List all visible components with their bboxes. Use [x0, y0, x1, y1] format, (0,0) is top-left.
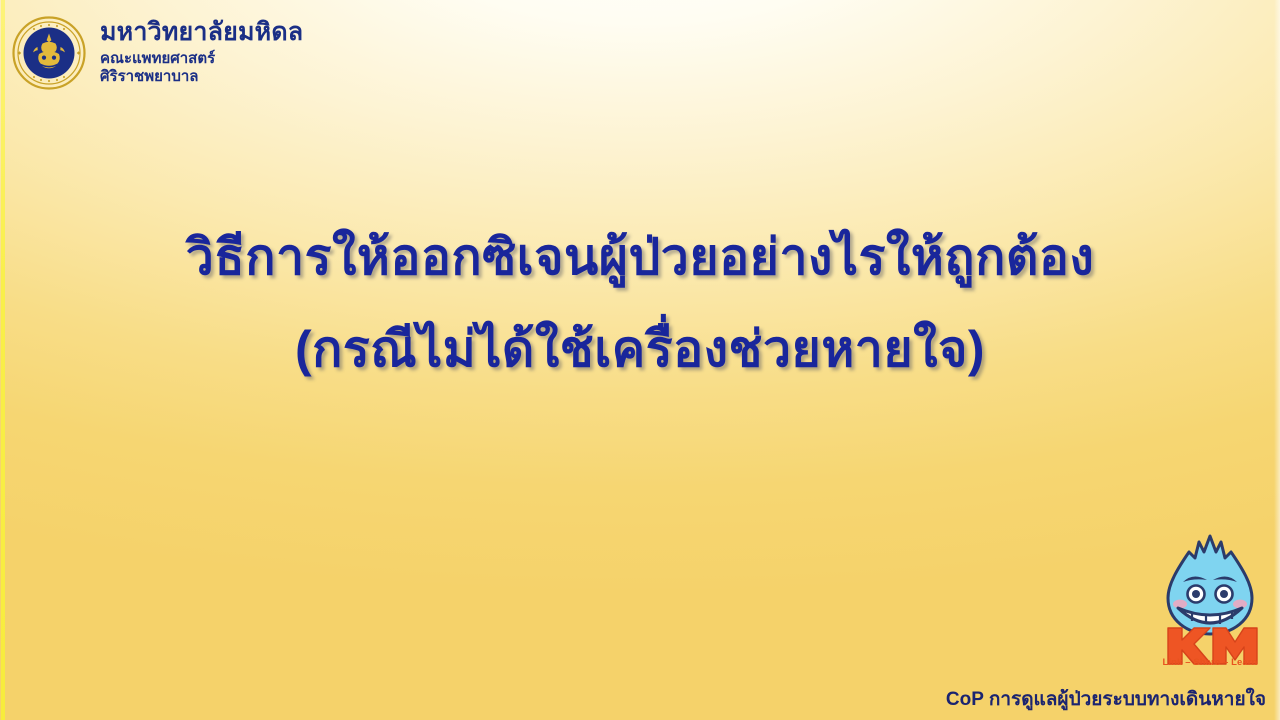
mahidol-university-seal-icon [12, 16, 86, 90]
faculty-name: คณะแพทยศาสตร์ [100, 51, 303, 66]
branding-text-group: มหาวิทยาลัยมหิดล คณะแพทยศาสตร์ ศิริราชพย… [100, 16, 303, 84]
km-caption-wrap: Link – Share – Learn [1158, 657, 1262, 668]
slide-title-block: วิธีการให้ออกซิเจนผู้ป่วยอย่างไรให้ถูกต้… [0, 232, 1280, 374]
km-logo: Link – Share – Learn [1158, 532, 1262, 668]
university-name: มหาวิทยาลัยมหิดล [100, 20, 303, 45]
cop-footer-caption: CoP การดูแลผู้ป่วยระบบทางเดินหายใจ [946, 684, 1266, 714]
slide-title-line-1: วิธีการให้ออกซิเจนผู้ป่วยอย่างไรให้ถูกต้… [0, 232, 1280, 282]
km-water-drop-mascot-icon [1158, 532, 1262, 668]
km-logo-caption: Link – Share – Learn [1158, 657, 1262, 668]
institution-branding: มหาวิทยาลัยมหิดล คณะแพทยศาสตร์ ศิริราชพย… [12, 16, 303, 90]
slide-canvas: มหาวิทยาลัยมหิดล คณะแพทยศาสตร์ ศิริราชพย… [0, 0, 1280, 720]
slide-title-line-2: (กรณีไม่ได้ใช้เครื่องช่วยหายใจ) [0, 324, 1280, 374]
hospital-name: ศิริราชพยาบาล [100, 69, 303, 84]
